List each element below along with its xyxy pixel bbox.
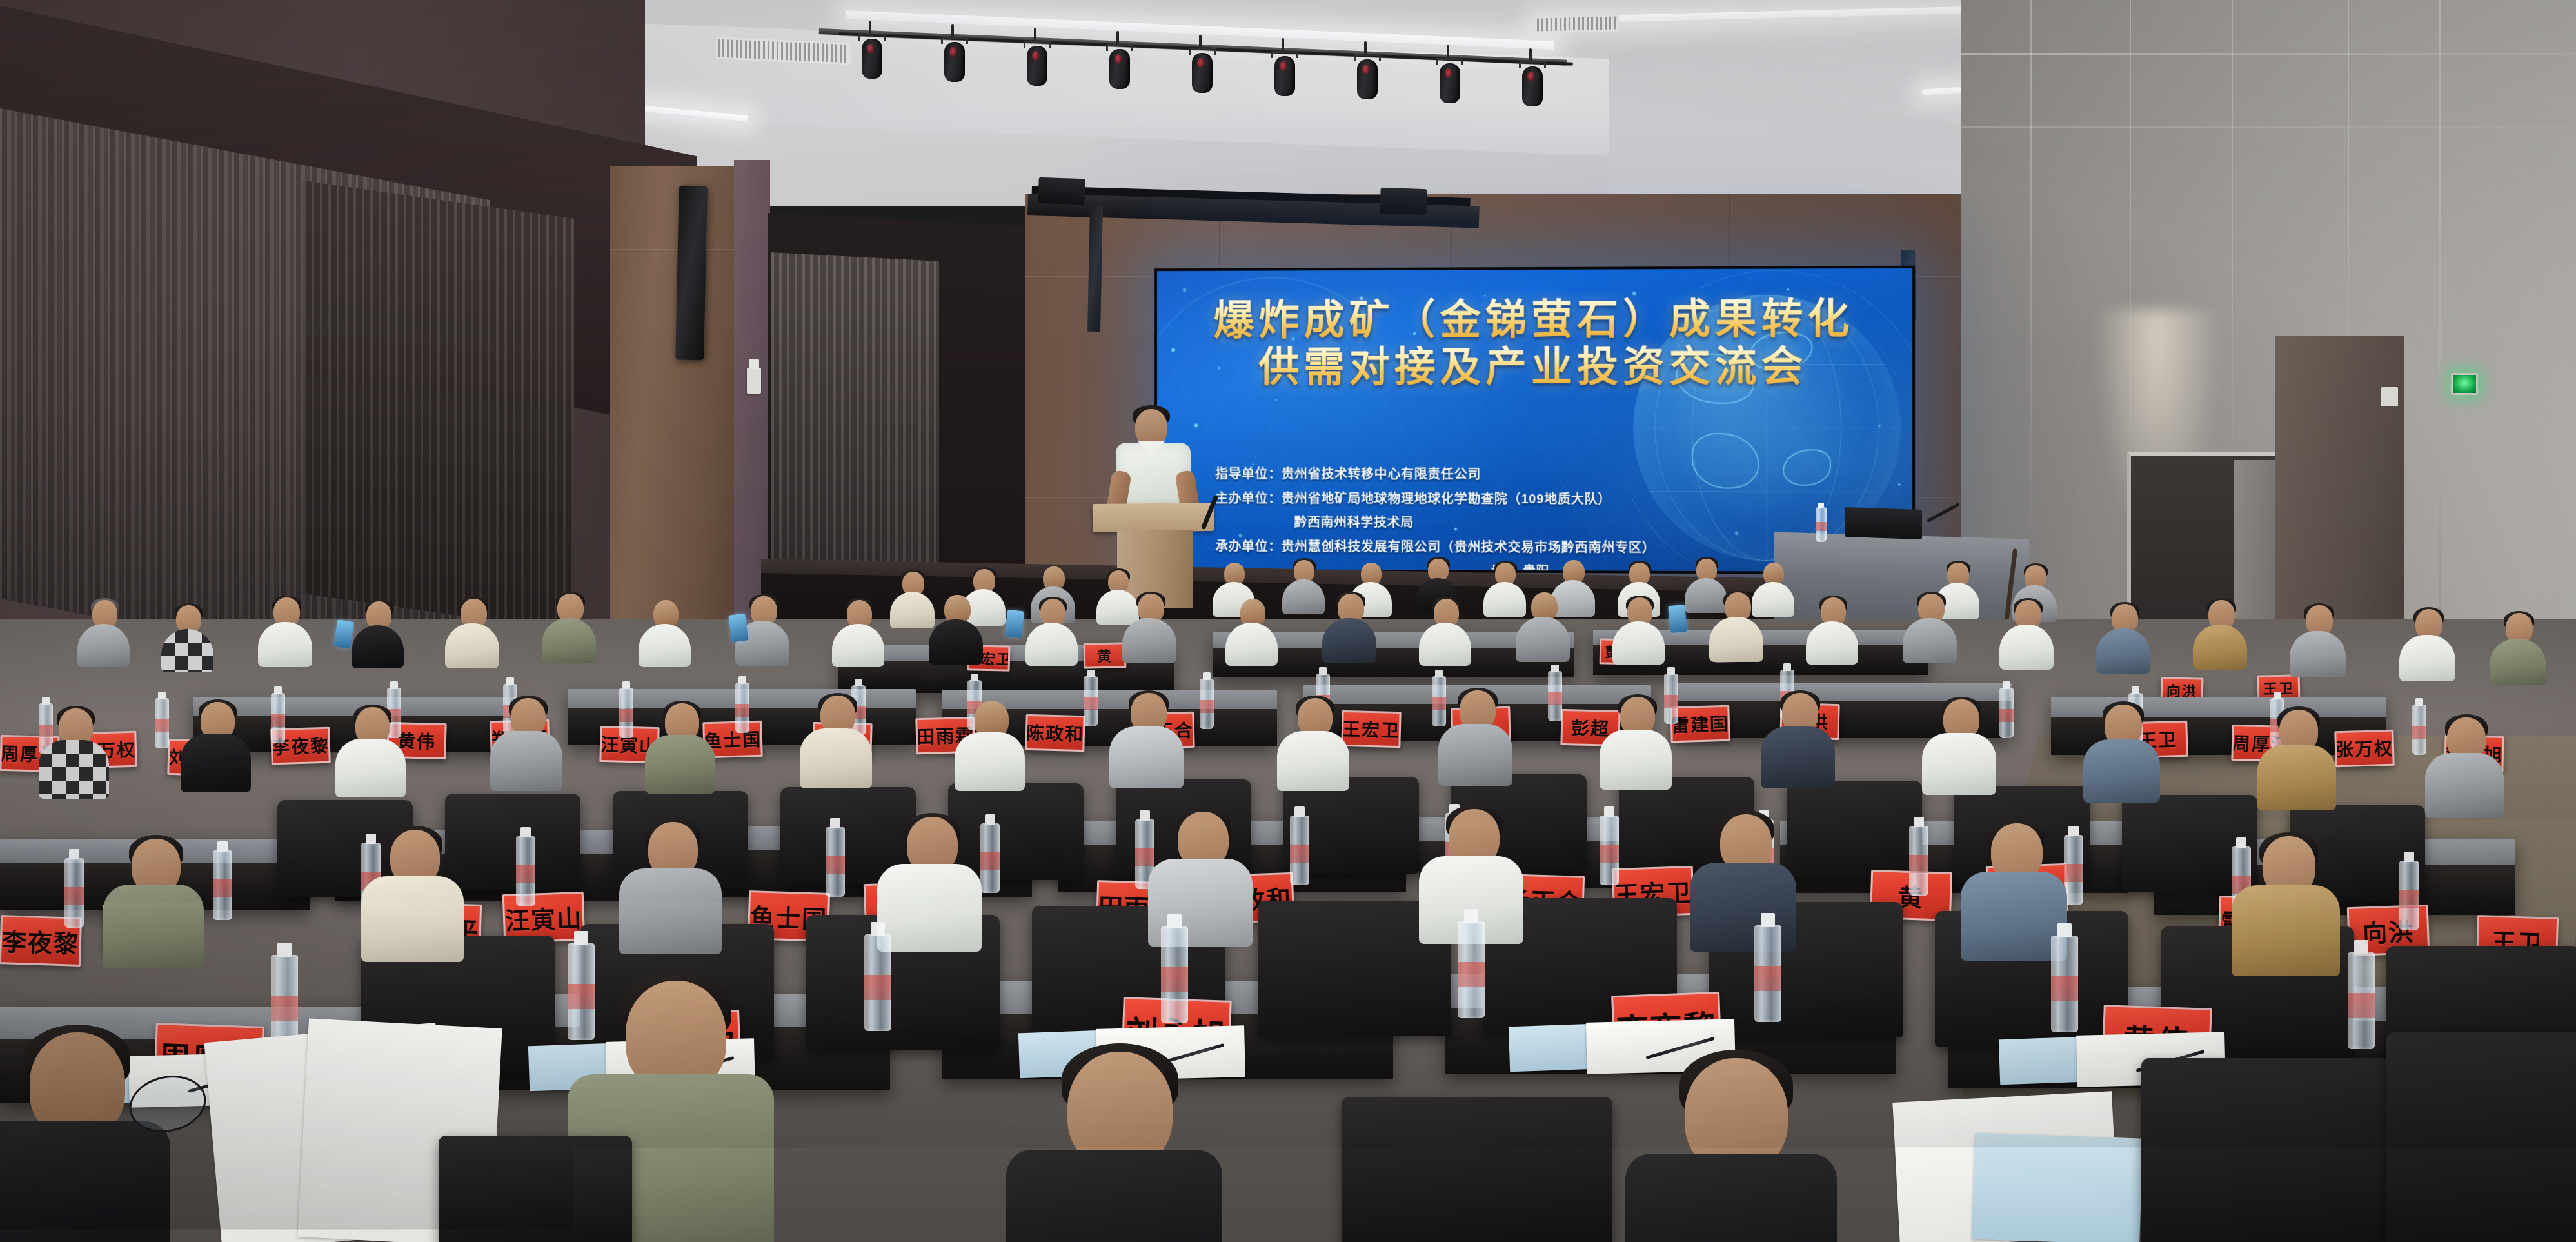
audience-member <box>2290 605 2348 677</box>
track-spotlight-icon <box>1188 48 1216 95</box>
line-array-speaker <box>675 186 708 361</box>
placard-name: 黄 <box>1097 645 1113 666</box>
audience-member <box>1419 599 1472 666</box>
track-spotlight-icon <box>1271 51 1299 99</box>
audience-member <box>1225 599 1279 666</box>
name-placard: 雷建国 <box>1670 705 1730 743</box>
audience-member <box>335 707 408 797</box>
track-spotlight-icon <box>1353 54 1382 102</box>
water-bottle <box>271 693 285 743</box>
audience-member <box>800 696 874 788</box>
chair[interactable] <box>1342 1097 1612 1242</box>
water-bottle <box>735 683 749 733</box>
water-bottle <box>1290 816 1309 885</box>
hvac-vent-icon <box>1535 14 1619 33</box>
audience-member <box>103 839 206 968</box>
track-spotlight-icon <box>1518 61 1547 109</box>
audience-member <box>181 702 253 792</box>
water-bottle <box>516 836 535 906</box>
audience-member <box>832 600 886 667</box>
audience-member <box>1761 693 1837 788</box>
audience-member <box>1612 597 1666 665</box>
audience-member <box>352 601 405 668</box>
audience-member <box>39 708 111 799</box>
audience-member <box>645 703 717 794</box>
water-bottle <box>1161 926 1188 1023</box>
phone[interactable] <box>1668 605 1687 633</box>
wall-light-switch[interactable] <box>747 368 761 394</box>
screen-title-line-2: 供需对接及产业投资交流会 <box>1157 343 1912 391</box>
audience-member <box>1148 812 1255 946</box>
stage-truss-drop <box>1087 205 1103 332</box>
track-spotlight-icon <box>1023 41 1051 88</box>
audience-member <box>2257 710 2338 810</box>
placard-name: 陈政和 <box>1026 719 1085 746</box>
audience-member <box>1690 814 1799 951</box>
audience-member <box>1277 698 1351 791</box>
subtitle-line: 主办单位：贵州省地矿局地球物理地球化学勘查院（109地质大队） <box>1215 487 1886 513</box>
audience-member <box>1282 560 1325 614</box>
audience-member <box>2399 609 2457 681</box>
audience-member <box>445 599 500 668</box>
wall-socket[interactable] <box>2381 387 2398 406</box>
water-bottle <box>1548 671 1562 721</box>
audience-member <box>2083 705 2162 803</box>
phone[interactable] <box>1005 610 1024 638</box>
audience-member <box>77 600 131 667</box>
audience-member <box>2425 717 2506 818</box>
subtitle-line: 指导单位：贵州省技术转移中心有限责任公司 <box>1215 463 1886 488</box>
name-placard: 张万权 <box>2334 730 2395 768</box>
track-spotlight-icon <box>1436 58 1464 106</box>
audience-member <box>1025 599 1079 666</box>
audience-member <box>1322 594 1378 663</box>
audience-member <box>1109 693 1185 788</box>
exit-sign-icon <box>2451 373 2478 395</box>
water-bottle <box>1816 507 1827 542</box>
track-spotlight-icon <box>1105 44 1134 92</box>
curtain-center <box>771 252 939 610</box>
audience-member <box>1516 592 1571 662</box>
screen-content: 爆炸成矿（金锑萤石）成果转化 供需对接及产业投资交流会 指导单位：贵州省技术转移… <box>1157 268 1912 572</box>
water-bottle <box>64 858 84 928</box>
screen-title-line-1: 爆炸成矿（金锑萤石）成果转化 <box>1157 295 1912 345</box>
audience-member <box>490 698 564 791</box>
audience-member <box>619 822 724 954</box>
water-bottle <box>213 850 232 920</box>
audience-member <box>1806 597 1859 665</box>
placard-name: 雷建国 <box>1670 710 1729 737</box>
laptop[interactable] <box>1845 507 1922 539</box>
water-bottle <box>619 688 633 738</box>
conference-hall-photo: 爆炸成矿（金锑萤石）成果转化 供需对接及产业投资交流会 指导单位：贵州省技术转移… <box>0 0 2576 1242</box>
water-bottle <box>1458 921 1485 1018</box>
audience-member <box>258 597 313 667</box>
water-bottle <box>1754 925 1781 1022</box>
audience-member <box>1122 594 1178 663</box>
audience-member <box>2096 604 2152 674</box>
audience-member <box>361 830 466 961</box>
name-placard: 黄 <box>1084 642 1127 668</box>
water-bottle <box>1999 688 2014 738</box>
audience-member <box>1709 592 1765 662</box>
track-spotlight-icon <box>940 37 969 85</box>
audience-member <box>1999 600 2055 670</box>
audience-member <box>877 817 984 951</box>
audience-member <box>1625 1058 1842 1242</box>
water-bottle <box>2348 952 2375 1049</box>
water-bottle <box>2051 936 2078 1032</box>
name-placard: 陈政和 <box>1025 714 1085 752</box>
chair[interactable] <box>2386 1032 2576 1242</box>
chair[interactable] <box>1787 781 1922 877</box>
placard-name: 张万权 <box>2335 735 2393 762</box>
audience-member <box>161 605 215 672</box>
audience-member <box>639 600 692 667</box>
audience-member <box>1903 594 1958 663</box>
water-bottle <box>2412 705 2426 755</box>
water-bottle <box>2399 861 2419 930</box>
chair[interactable] <box>439 1136 632 1242</box>
audience-member <box>2193 600 2248 670</box>
audience-member <box>1600 697 1674 790</box>
audience-member <box>1006 1052 1228 1242</box>
audience-member <box>1438 690 1514 786</box>
water-bottle <box>826 827 845 897</box>
audience-member <box>1922 699 1998 795</box>
stage-fixture <box>1380 188 1427 215</box>
stage-fixture <box>1038 177 1085 205</box>
audience-member <box>955 701 1027 791</box>
notepad <box>1972 1133 2143 1242</box>
audience-member <box>2232 836 2343 976</box>
audience-member <box>929 595 984 665</box>
track-spotlight-icon <box>858 34 886 81</box>
water-bottle <box>155 698 169 748</box>
chair[interactable] <box>2141 1058 2412 1242</box>
water-bottle <box>1200 679 1214 729</box>
audience-member <box>542 594 597 663</box>
led-screen-surface: 爆炸成矿（金锑萤石）成果转化 供需对接及产业投资交流会 指导单位：贵州省技术转移… <box>1157 268 1912 572</box>
screen-title: 爆炸成矿（金锑萤石）成果转化 供需对接及产业投资交流会 <box>1157 295 1912 391</box>
audience-member <box>0 1032 175 1242</box>
curtain-left-second-panel <box>303 181 574 632</box>
water-bottle <box>864 934 891 1031</box>
water-bottle <box>1084 676 1098 726</box>
audience-member <box>2490 613 2548 685</box>
led-screen: 爆炸成矿（金锑萤石）成果转化 供需对接及产业投资交流会 指导单位：贵州省技术转移… <box>1154 266 1915 575</box>
water-bottle <box>1600 816 1619 885</box>
water-bottle <box>1909 826 1928 896</box>
